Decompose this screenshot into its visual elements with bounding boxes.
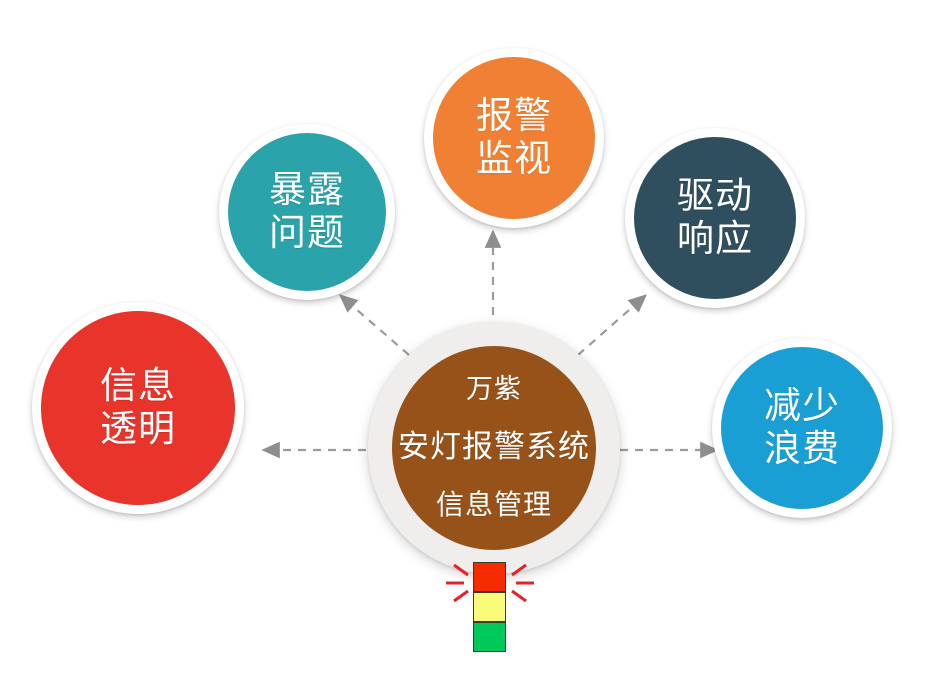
center-node-line-1: 万紫 [466, 374, 522, 405]
node-alarm-monitoring[interactable]: 报警 监视 [424, 48, 604, 228]
node-information-transparency-line-2: 透明 [100, 408, 176, 451]
node-reduce-waste-disc: 减少 浪费 [721, 347, 883, 509]
center-node-line-2: 安灯报警系统 [398, 429, 590, 465]
node-drive-response-line-2: 响应 [677, 218, 753, 261]
node-alarm-monitoring-disc: 报警 监视 [433, 57, 595, 219]
lamp-segment-yellow [473, 592, 506, 622]
node-reduce-waste-line-2: 浪费 [764, 428, 840, 471]
diagram-canvas: 报警 监视 暴露 问题 驱动 响应 信息 透明 减少 浪费 万紫 安 [0, 0, 939, 680]
node-information-transparency-line-1: 信息 [100, 365, 176, 408]
node-expose-problems-disc: 暴露 问题 [228, 133, 386, 291]
node-information-transparency-disc: 信息 透明 [41, 311, 235, 505]
node-drive-response-disc: 驱动 响应 [634, 137, 796, 299]
center-node[interactable]: 万紫 安灯报警系统 信息管理 [368, 322, 620, 574]
node-drive-response[interactable]: 驱动 响应 [625, 128, 805, 308]
arrow-to-drive-response [578, 296, 645, 355]
node-information-transparency[interactable]: 信息 透明 [32, 302, 244, 514]
arrow-to-expose-problems [341, 296, 409, 355]
node-reduce-waste-line-1: 减少 [764, 385, 840, 428]
center-node-disc: 万紫 安灯报警系统 信息管理 [392, 346, 596, 550]
node-reduce-waste[interactable]: 减少 浪费 [712, 338, 892, 518]
node-alarm-monitoring-line-2: 监视 [476, 138, 552, 181]
lamp-segment-red [473, 562, 506, 592]
andon-lamp [440, 548, 540, 650]
node-expose-problems-line-2: 问题 [269, 212, 345, 255]
node-drive-response-line-1: 驱动 [677, 175, 753, 218]
node-alarm-monitoring-line-1: 报警 [476, 95, 552, 138]
lamp-segment-green [473, 622, 506, 652]
center-node-line-3: 信息管理 [436, 489, 552, 521]
node-expose-problems-line-1: 暴露 [269, 169, 345, 212]
node-expose-problems[interactable]: 暴露 问题 [219, 124, 395, 300]
